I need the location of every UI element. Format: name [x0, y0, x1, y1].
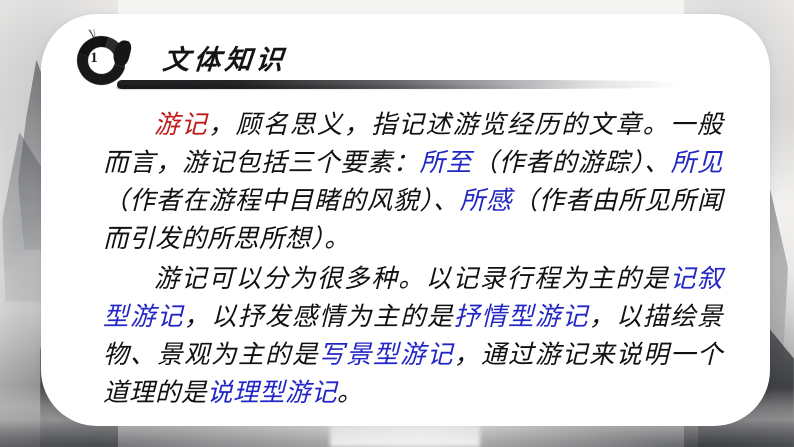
- text-run-blue: 所至: [420, 148, 473, 177]
- brush-bristle-icon: [84, 28, 106, 47]
- text-run-ink: ，以抒发感情为主的是: [184, 302, 454, 331]
- page-title: 文体知识: [161, 38, 288, 77]
- paragraph-2: 游记可以分为很多种。以记录行程为主的是记叙型游记，以抒发感情为主的是抒情型游记，…: [103, 260, 723, 412]
- text-run-ink: 。: [337, 378, 363, 407]
- text-run-red: 游记: [154, 110, 208, 139]
- slide-header: 1 文体知识: [59, 30, 750, 92]
- body-text-block: 游记，顾名思义，指记述游览经历的文章。一般而言，游记包括三个要素：所至（作者的游…: [103, 106, 723, 414]
- text-run-blue: 写景型游记: [319, 340, 454, 369]
- slide-root: 1 文体知识 游记，顾名思义，指记述游览经历的文章。一般而言，游记包括三个要素：…: [0, 0, 794, 447]
- brush-underline-decoration: [117, 80, 683, 89]
- text-run-ink: （作者的游踪）、: [472, 148, 670, 177]
- section-number-badge: 1: [85, 50, 103, 67]
- text-run-ink: 游记可以分为很多种。以记录行程为主的是: [154, 264, 670, 293]
- content-card: 1 文体知识 游记，顾名思义，指记述游览经历的文章。一般而言，游记包括三个要素：…: [41, 14, 770, 426]
- text-run-ink: （作者在游程中目睹的风貌）、: [103, 186, 460, 215]
- paragraph-1: 游记，顾名思义，指记述游览经历的文章。一般而言，游记包括三个要素：所至（作者的游…: [103, 106, 723, 258]
- text-run-blue: 抒情型游记: [454, 302, 589, 331]
- brush-ring-icon: 1: [77, 36, 126, 85]
- text-run-blue: 所感: [460, 186, 513, 215]
- text-run-blue: 所见: [671, 148, 723, 177]
- text-run-blue: 说理型游记: [207, 378, 337, 407]
